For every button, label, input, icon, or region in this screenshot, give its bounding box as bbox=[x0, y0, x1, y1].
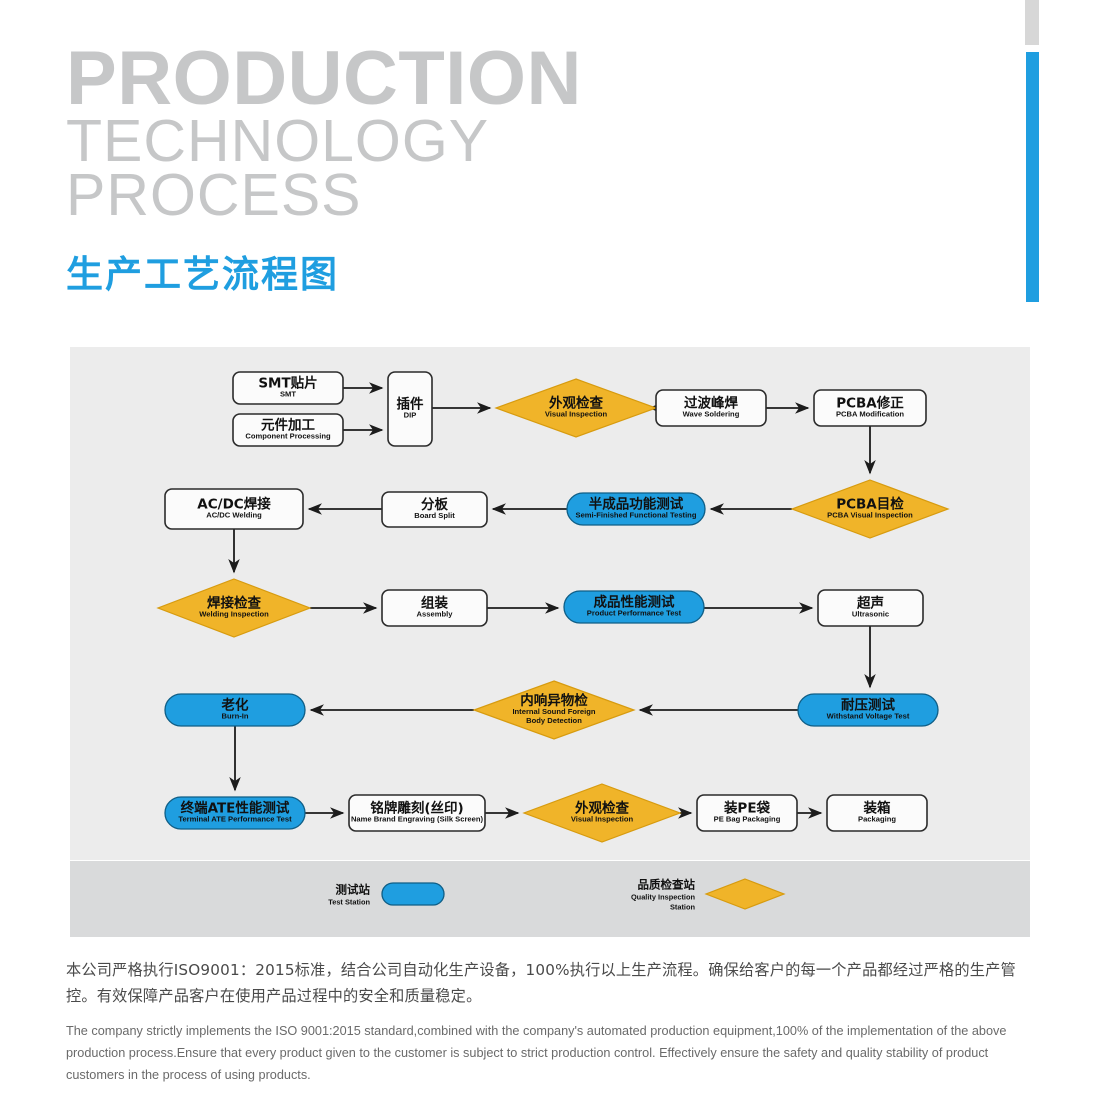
flow-node-ate[interactable]: 终端ATE性能测试Terminal ATE Performance Test bbox=[165, 797, 305, 829]
node-label-en: Internal Sound Foreign bbox=[512, 707, 595, 716]
node-label-en: Name Brand Engraving (Silk Screen) bbox=[351, 815, 484, 824]
node-label-en: DIP bbox=[404, 411, 417, 420]
node-label-en: Packaging bbox=[858, 815, 896, 824]
legend-item-test-station: 测试站Test Station bbox=[328, 883, 444, 907]
flow-node-smt[interactable]: SMT贴片SMT bbox=[233, 372, 343, 404]
flow-node-semifunc[interactable]: 半成品功能测试Semi-Finished Functional Testing bbox=[567, 493, 705, 525]
flow-node-ultrasonic[interactable]: 超声Ultrasonic bbox=[818, 590, 923, 626]
decorative-blue-bar bbox=[1026, 52, 1039, 302]
flow-node-component[interactable]: 元件加工Component Processing bbox=[233, 414, 343, 446]
flow-node-dip[interactable]: 插件DIP bbox=[388, 372, 432, 446]
node-label-en: Body Detection bbox=[526, 716, 582, 725]
flow-node-assembly[interactable]: 组装Assembly bbox=[382, 590, 487, 626]
flow-node-welding[interactable]: 焊接检查Welding Inspection bbox=[158, 579, 310, 637]
node-label-en: Burn-In bbox=[222, 712, 249, 721]
node-label-en: Component Processing bbox=[245, 432, 331, 441]
node-label-en: PCBA Modification bbox=[836, 410, 904, 419]
page-title-chinese: 生产工艺流程图 bbox=[66, 244, 966, 298]
node-label-en: Ultrasonic bbox=[852, 610, 889, 619]
node-label-en: Withstand Voltage Test bbox=[827, 712, 910, 721]
node-label-en: Wave Soldering bbox=[683, 410, 740, 419]
decorative-gray-bar bbox=[1025, 0, 1039, 45]
flow-node-pcbamod[interactable]: PCBA修正PCBA Modification bbox=[814, 390, 926, 426]
flowchart-legend: 测试站Test Station品质检查站Quality InspectionSt… bbox=[70, 861, 1030, 937]
legend-label-cn: 品质检查站 bbox=[638, 878, 696, 892]
page-title-process: PROCESS bbox=[66, 168, 966, 222]
flow-node-internal[interactable]: 内响异物检Internal Sound ForeignBody Detectio… bbox=[474, 681, 634, 739]
node-label-en: Product Performance Test bbox=[587, 609, 682, 618]
legend-item-quality-station: 品质检查站Quality InspectionStation bbox=[631, 878, 784, 912]
node-label-en: Board Split bbox=[414, 511, 455, 520]
flow-node-perftest[interactable]: 成品性能测试Product Performance Test bbox=[564, 591, 704, 623]
flow-node-visual1[interactable]: 外观检查Visual Inspection bbox=[496, 379, 656, 437]
node-label-en: Visual Inspection bbox=[571, 815, 634, 824]
node-label-en: AC/DC Welding bbox=[206, 511, 262, 520]
flow-node-engrave[interactable]: 铭牌雕刻(丝印)Name Brand Engraving (Silk Scree… bbox=[349, 795, 485, 831]
page-title-technology: TECHNOLOGY bbox=[66, 114, 966, 168]
node-label-en: Semi-Finished Functional Testing bbox=[576, 511, 697, 520]
footer-paragraph-chinese: 本公司严格执行ISO9001：2015标准，结合公司自动化生产设备，100%执行… bbox=[66, 957, 1044, 1009]
flow-node-burnin[interactable]: 老化Burn-In bbox=[165, 694, 305, 726]
node-label-en: Visual Inspection bbox=[545, 410, 608, 419]
legend-swatch-diamond bbox=[706, 879, 784, 909]
legend-label-cn: 测试站 bbox=[336, 883, 371, 897]
node-label-en: Terminal ATE Performance Test bbox=[178, 815, 292, 824]
node-label-en: SMT bbox=[280, 390, 296, 399]
page-header: PRODUCTION TECHNOLOGY PROCESS 生产工艺流程图 bbox=[66, 44, 966, 298]
legend-label-en: Quality Inspection bbox=[631, 893, 696, 902]
node-label-en: Assembly bbox=[417, 610, 454, 619]
flow-node-acdc[interactable]: AC/DC焊接AC/DC Welding bbox=[165, 489, 303, 529]
node-label-en: PE Bag Packaging bbox=[714, 815, 781, 824]
page-title-production: PRODUCTION bbox=[66, 44, 966, 114]
flow-node-packaging[interactable]: 装箱Packaging bbox=[827, 795, 927, 831]
flow-node-visual2[interactable]: 外观检查Visual Inspection bbox=[524, 784, 680, 842]
flow-node-boardsplit[interactable]: 分板Board Split bbox=[382, 492, 487, 527]
footer-paragraph-english: The company strictly implements the ISO … bbox=[66, 1021, 1044, 1087]
legend-swatch-pill bbox=[382, 883, 444, 905]
production-flowchart: SMT贴片SMT元件加工Component Processing插件DIP外观检… bbox=[70, 347, 1030, 860]
flow-node-withstand[interactable]: 耐压测试Withstand Voltage Test bbox=[798, 694, 938, 726]
node-label-en: PCBA Visual Inspection bbox=[827, 511, 913, 520]
legend-label-en: Test Station bbox=[328, 898, 370, 907]
flow-node-wave[interactable]: 过波峰焊Wave Soldering bbox=[656, 390, 766, 426]
flow-node-pcbavisual[interactable]: PCBA目检PCBA Visual Inspection bbox=[792, 480, 948, 538]
node-label-en: Welding Inspection bbox=[199, 610, 269, 619]
flow-node-pebag[interactable]: 装PE袋PE Bag Packaging bbox=[697, 795, 797, 831]
legend-label-en: Station bbox=[670, 903, 696, 912]
flowchart-nodes: SMT贴片SMT元件加工Component Processing插件DIP外观检… bbox=[158, 372, 948, 842]
flowchart-connectors bbox=[234, 388, 870, 813]
